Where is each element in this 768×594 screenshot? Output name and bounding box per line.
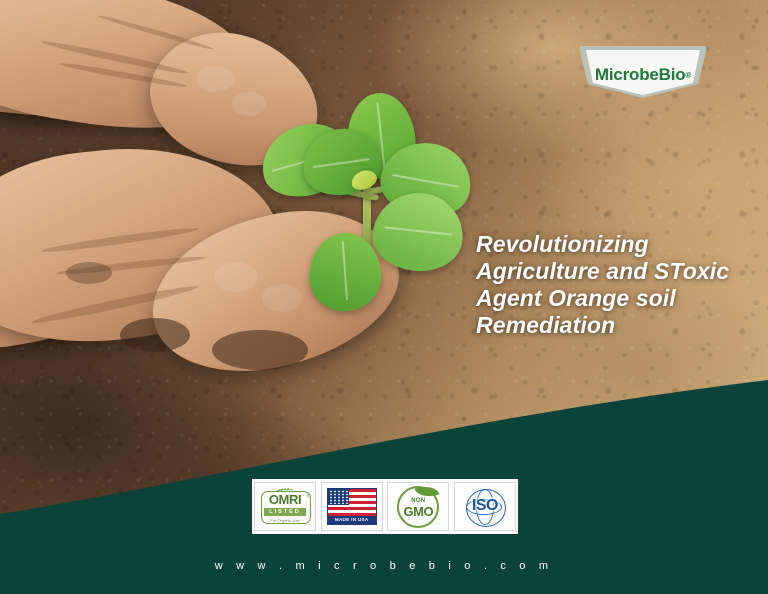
omri-mark: OMRI ® LISTED For Organic Use [258,486,312,527]
leaf-vein [342,241,348,300]
logo-registered-mark: ® [685,71,691,80]
knuckle-highlight [196,66,234,92]
headline-line: Revolutionizing [476,231,752,258]
leaf-vein [392,174,460,188]
gmo-label: GMO [399,505,437,518]
seedling [255,85,505,335]
flag-stars [329,490,348,504]
omri-caption: For Organic Use [258,518,312,523]
certification-badges: OMRI ® LISTED For Organic Use MADE IN US… [252,479,518,534]
omri-wordmark: OMRI [258,493,312,506]
leaf-vein [313,158,370,168]
soil-clump [66,262,112,284]
omri-registered-mark: ® [306,494,310,500]
badge-iso[interactable]: ISO [454,482,516,531]
badge-non-gmo[interactable]: NON GMO [387,482,449,531]
footer-curve-shape [0,330,768,594]
non-gmo-mark: NON GMO [397,486,439,528]
badge-made-in-usa[interactable]: MADE IN USA [321,482,383,531]
page-title: Revolutionizing Agriculture and SToxic A… [476,231,752,339]
plant-leaf [306,231,383,314]
footer-band [0,330,768,594]
omri-listed-label: LISTED [264,508,306,516]
usa-flag-icon: MADE IN USA [327,488,377,525]
website-url[interactable]: w w w . m i c r o b e b i o . c o m [0,560,768,572]
iso-wordmark: ISO [463,498,507,514]
headline-line: Agent Orange soil [476,285,752,312]
badge-omri[interactable]: OMRI ® LISTED For Organic Use [254,482,316,531]
brochure-cover: MicrobeBio® Revolutionizing Agriculture … [0,0,768,594]
flag-canton [328,489,349,505]
brand-logo[interactable]: MicrobeBio® [580,46,706,98]
iso-mark: ISO [463,487,507,527]
logo-wordmark: MicrobeBio [595,65,686,85]
headline-line: Agriculture and SToxic [476,258,752,285]
leaf-vein [384,227,452,236]
made-in-usa-label: MADE IN USA [328,516,376,524]
gmo-non-label: NON [399,498,437,504]
knuckle-highlight [214,262,258,292]
logo-text: MicrobeBio® [580,46,706,98]
